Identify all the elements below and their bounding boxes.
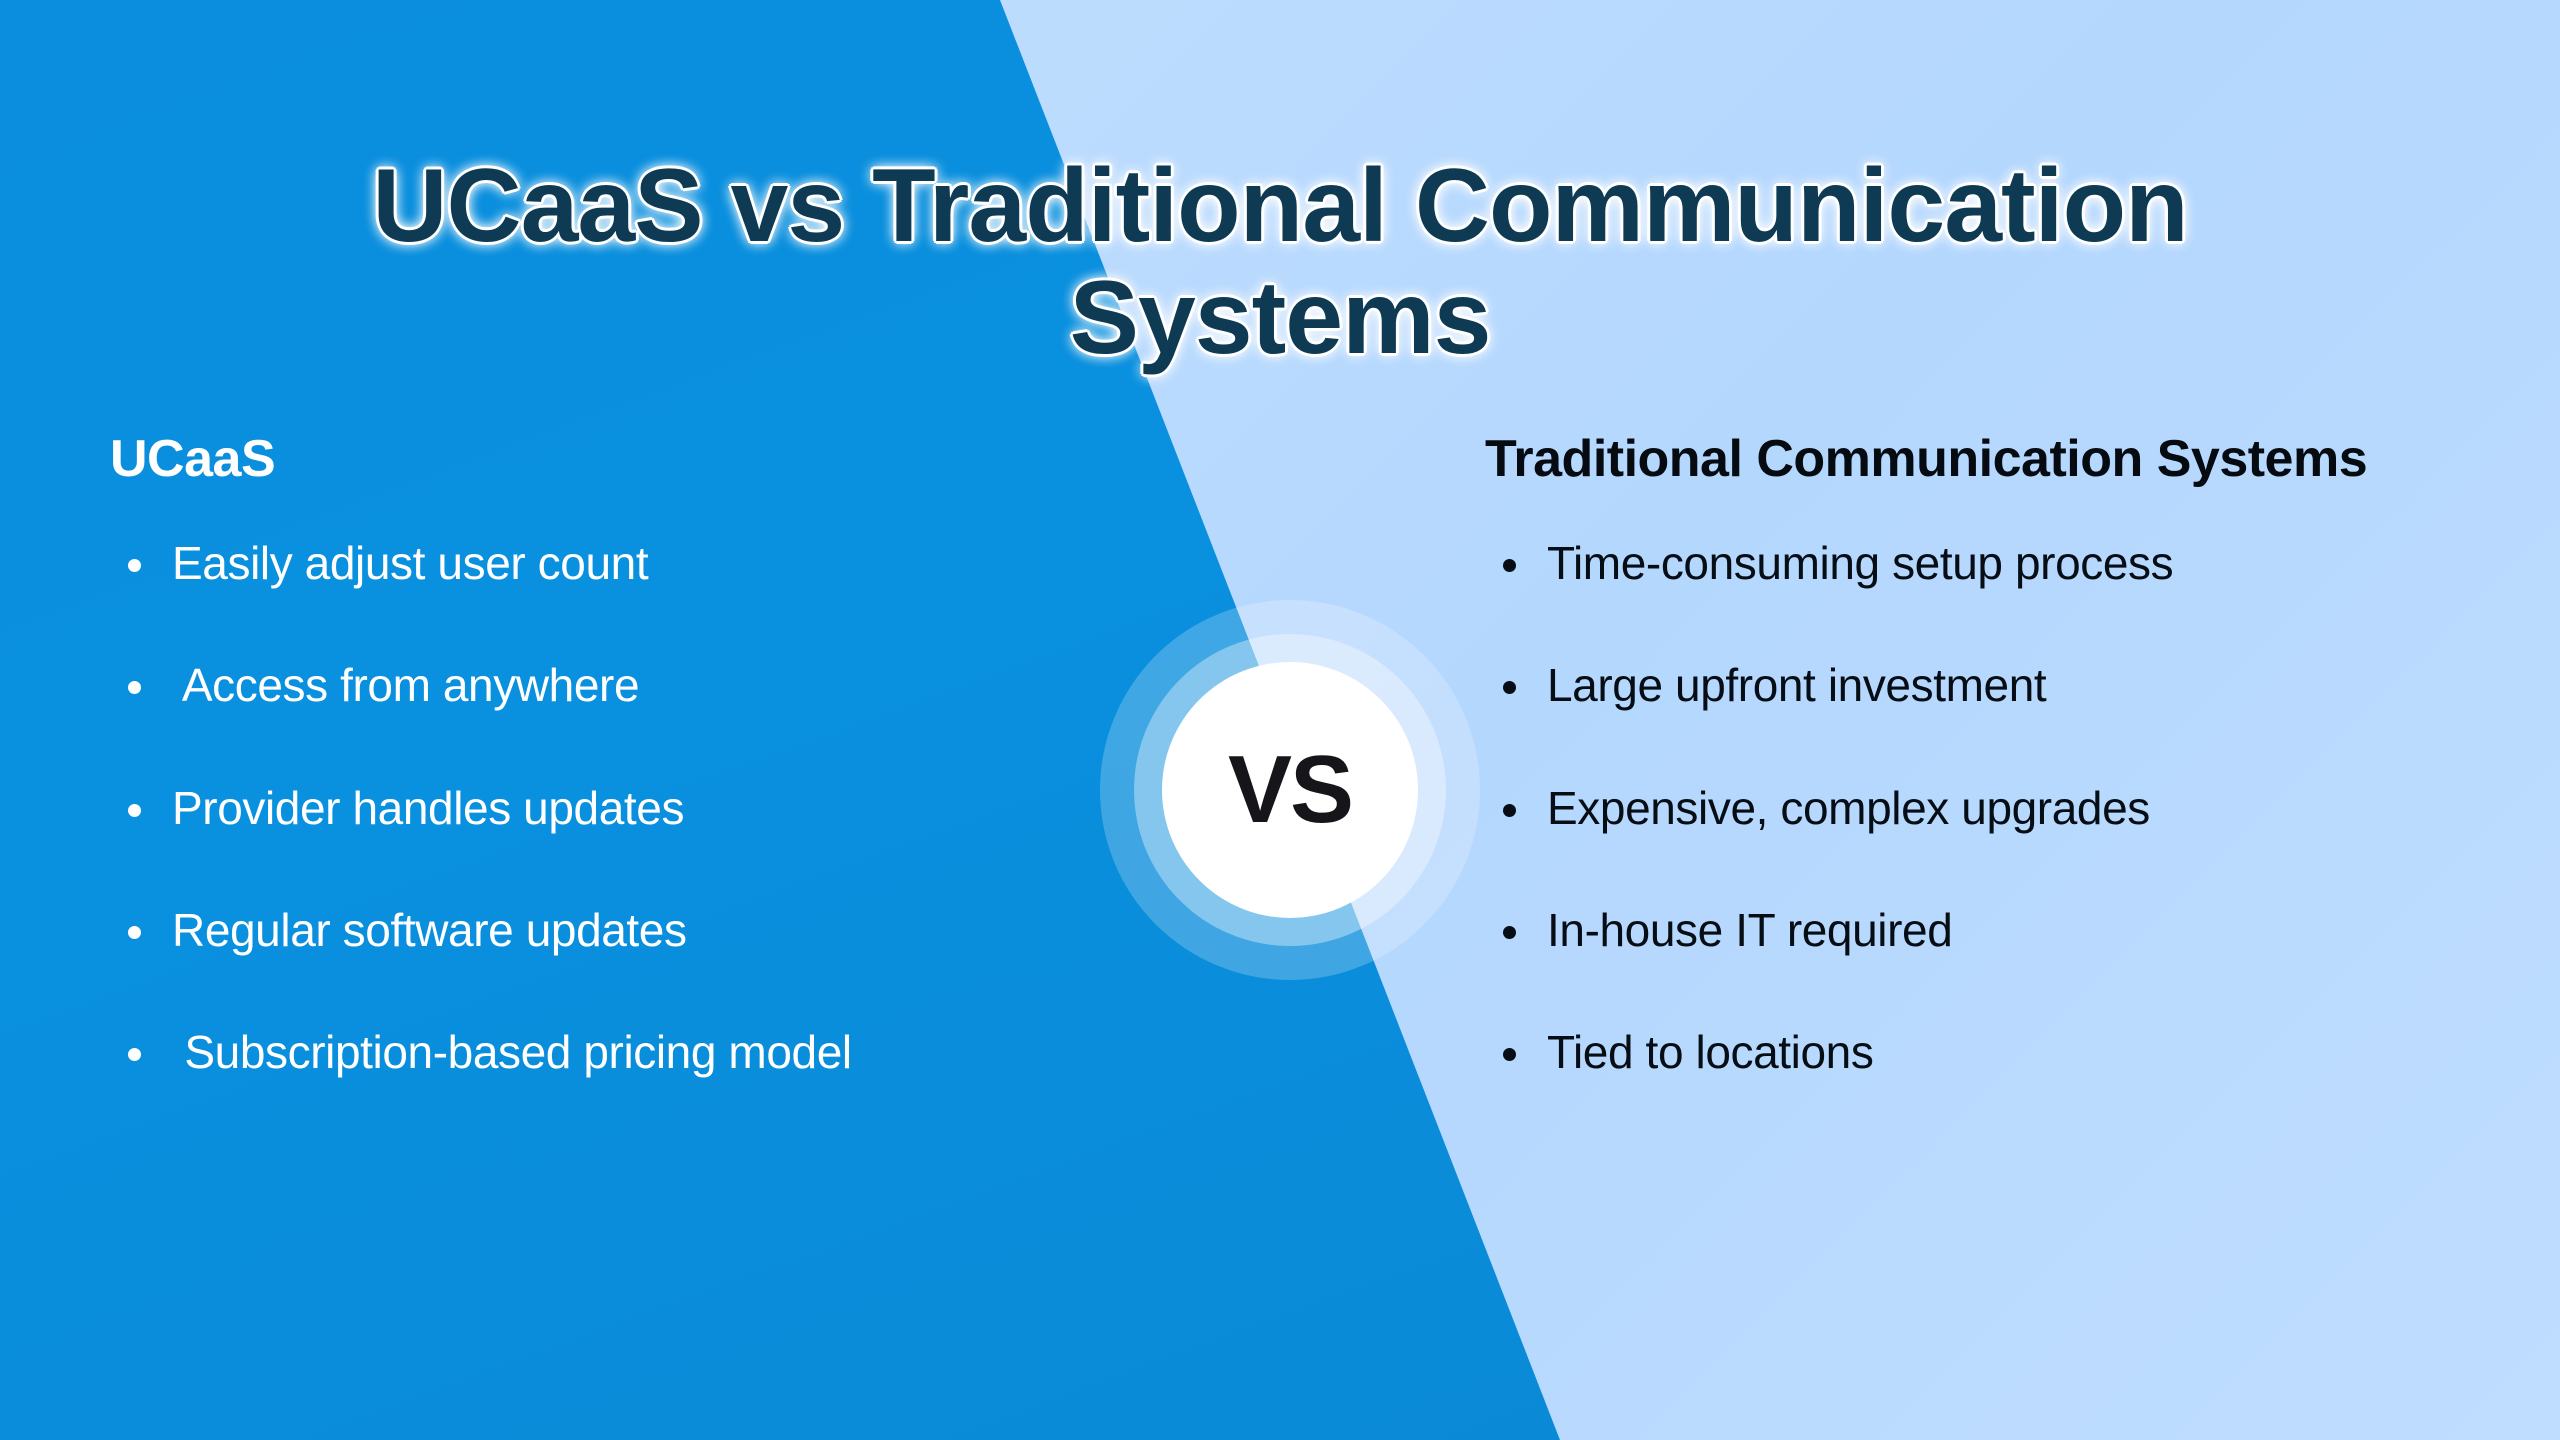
traditional-column: Traditional Communication Systems Time-c… bbox=[1485, 430, 2495, 1080]
list-item: In-house IT required bbox=[1485, 903, 2495, 958]
traditional-bullet-list: Time-consuming setup process Large upfro… bbox=[1485, 536, 2495, 1080]
ucaas-column-heading: UCaaS bbox=[110, 430, 1160, 488]
ucaas-bullet-list: Easily adjust user count Access from any… bbox=[110, 536, 1160, 1080]
ucaas-column: UCaaS Easily adjust user count Access fr… bbox=[110, 430, 1160, 1080]
page-title: UCaaS vs Traditional Communication Syste… bbox=[130, 150, 2430, 375]
list-item: Time-consuming setup process bbox=[1485, 536, 2495, 591]
page-title-line-1: UCaaS vs Traditional Communication bbox=[130, 150, 2430, 262]
list-item: Easily adjust user count bbox=[110, 536, 1160, 591]
vs-label: VS bbox=[1228, 742, 1352, 838]
vs-badge: VS bbox=[1100, 600, 1480, 980]
page-title-line-2: Systems bbox=[130, 262, 2430, 374]
list-item: Expensive, complex upgrades bbox=[1485, 781, 2495, 836]
list-item: Large upfront investment bbox=[1485, 658, 2495, 713]
list-item: Tied to locations bbox=[1485, 1025, 2495, 1080]
comparison-infographic: UCaaS vs Traditional Communication Syste… bbox=[0, 0, 2560, 1440]
list-item: Regular software updates bbox=[110, 903, 1160, 958]
traditional-column-heading: Traditional Communication Systems bbox=[1485, 430, 2495, 488]
list-item: Provider handles updates bbox=[110, 781, 1160, 836]
list-item: Subscription-based pricing model bbox=[110, 1025, 1160, 1080]
list-item: Access from anywhere bbox=[110, 658, 1160, 713]
vs-circle: VS bbox=[1162, 662, 1418, 918]
